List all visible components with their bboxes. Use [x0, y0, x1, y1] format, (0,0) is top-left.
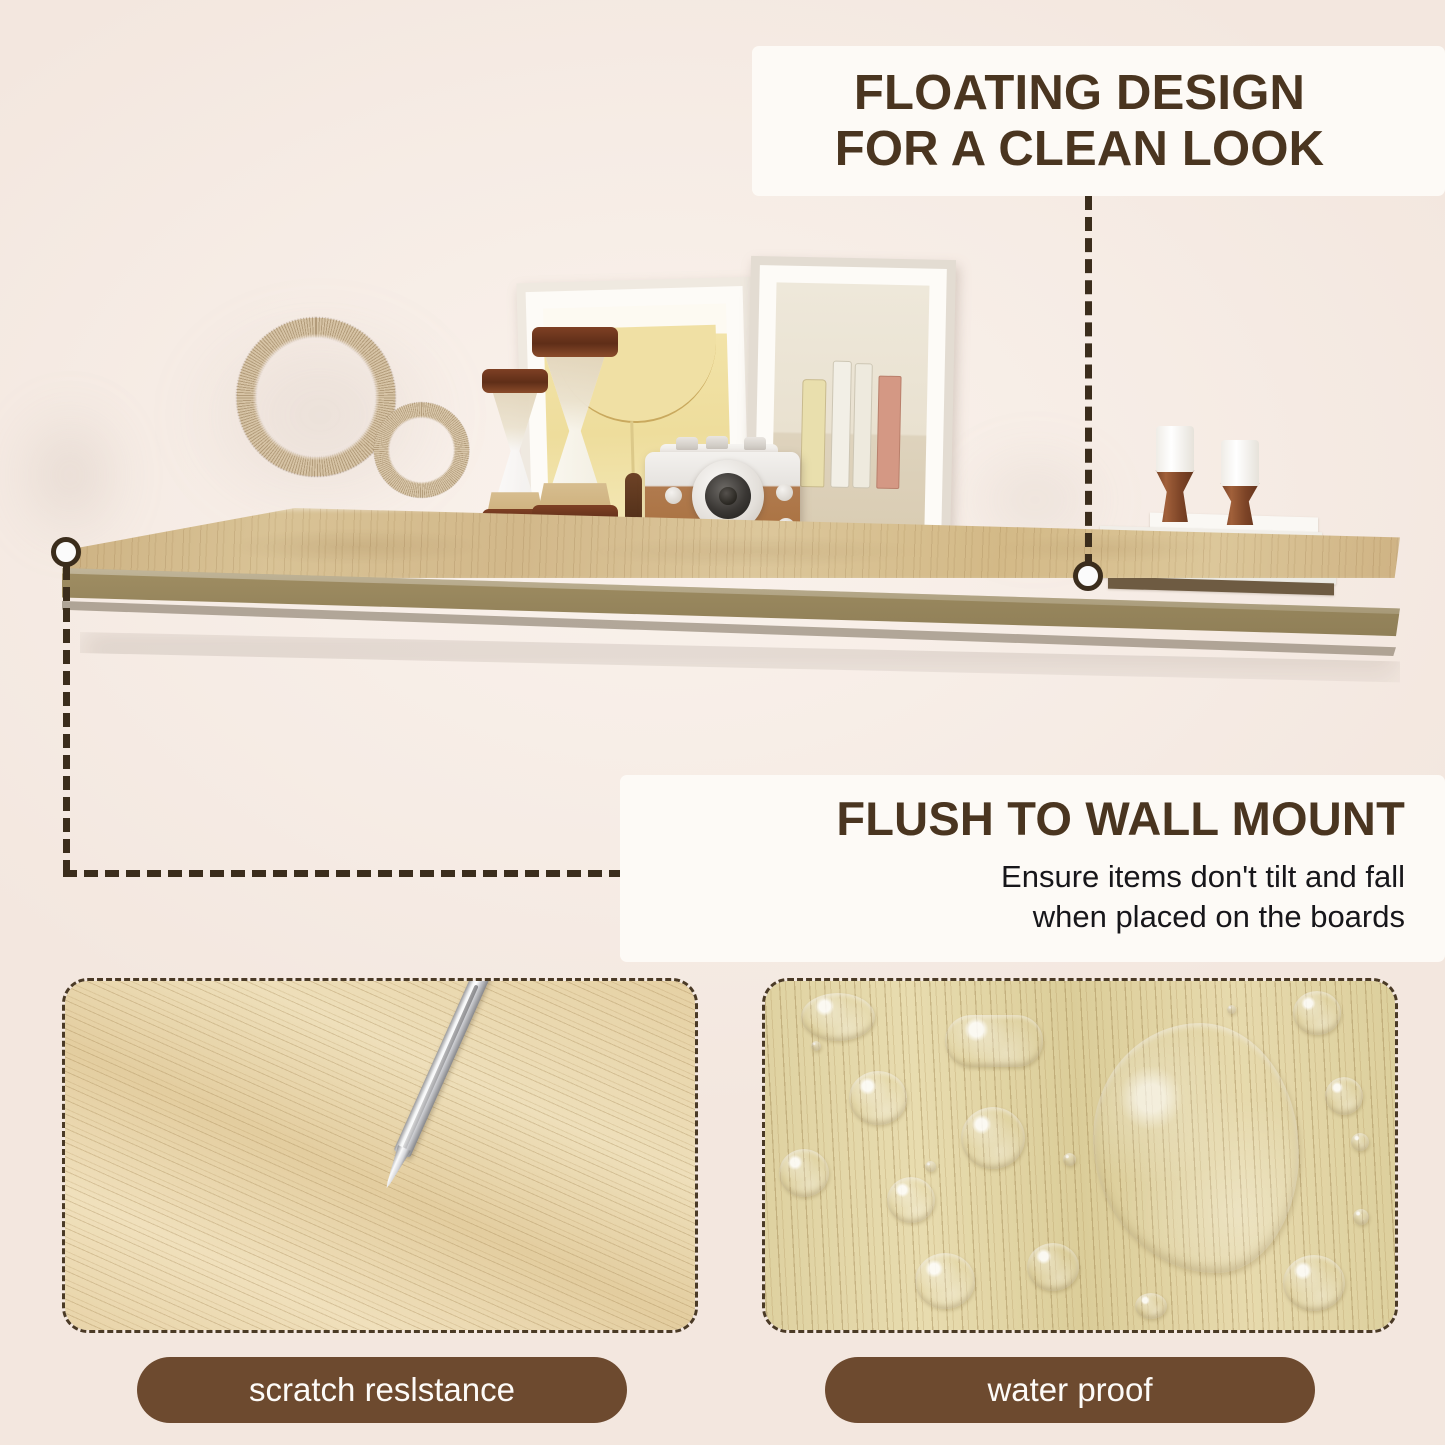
feature-label-text: water proof: [987, 1371, 1152, 1409]
water-drop: [945, 1015, 1043, 1067]
water-drop: [887, 1177, 935, 1223]
wood-surface-texture: [65, 981, 695, 1330]
callout-title-line1: FLOATING DESIGN: [752, 68, 1407, 119]
floating-shelf: [0, 480, 1445, 710]
shelf-top-surface: [62, 508, 1400, 578]
water-drop: [1135, 1293, 1167, 1319]
callout-panel-flush-mount: FLUSH TO WALL MOUNT Ensure items don't t…: [620, 775, 1445, 962]
water-drop: [811, 1041, 821, 1051]
camera-dial: [744, 437, 766, 450]
water-drop: [1227, 1005, 1236, 1014]
callout-panel-floating-design: FLOATING DESIGN FOR A CLEAN LOOK: [752, 46, 1445, 196]
callout-marker-shelf-left: [51, 537, 81, 567]
hourglass-cap-top: [532, 327, 619, 357]
infographic-canvas: FLOATING DESIGN FOR A CLEAN LOOK FLUSH T…: [0, 0, 1445, 1445]
feature-panel-waterproof: [762, 978, 1398, 1333]
feature-panel-scratch: [62, 978, 698, 1333]
water-drop: [1293, 991, 1341, 1035]
feature-label-waterproof[interactable]: water proof: [825, 1357, 1315, 1423]
callout-connector-vertical-top: [1085, 196, 1092, 568]
feature-label-scratch[interactable]: scratch reslstance: [137, 1357, 627, 1423]
camera-dial: [706, 436, 728, 449]
water-drop: [1351, 1133, 1369, 1151]
water-drop: [915, 1253, 975, 1309]
water-drop: [1063, 1153, 1076, 1166]
callout-title-flush: FLUSH TO WALL MOUNT: [836, 795, 1405, 844]
callout-title-line2: FOR A CLEAN LOOK: [752, 124, 1407, 175]
camera-dial: [676, 437, 698, 450]
callout-connector-horizontal: [63, 870, 623, 877]
water-drop: [801, 993, 875, 1041]
water-drop: [849, 1071, 907, 1125]
callout-connector-vertical-bottom: [63, 566, 70, 874]
callout-subtitle-line1: Ensure items don't tilt and fall: [1001, 859, 1405, 895]
pillar-candle: [1156, 426, 1194, 472]
callout-marker-shelf: [1073, 561, 1103, 591]
water-drop: [1325, 1077, 1363, 1115]
water-drop: [925, 1161, 936, 1172]
water-drop: [1027, 1243, 1079, 1291]
shelf-wood-grain: [62, 508, 1400, 578]
artwork-vessel: [852, 363, 873, 488]
artwork-vessel: [876, 376, 902, 489]
water-drop: [961, 1107, 1025, 1169]
feature-label-text: scratch reslstance: [249, 1371, 515, 1409]
artwork-vessel: [830, 360, 851, 487]
callout-subtitle-line2: when placed on the boards: [1033, 899, 1405, 935]
water-drop: [1353, 1209, 1369, 1225]
water-drop: [1283, 1255, 1345, 1311]
artwork-vessel: [800, 379, 827, 487]
water-drop: [779, 1149, 829, 1197]
